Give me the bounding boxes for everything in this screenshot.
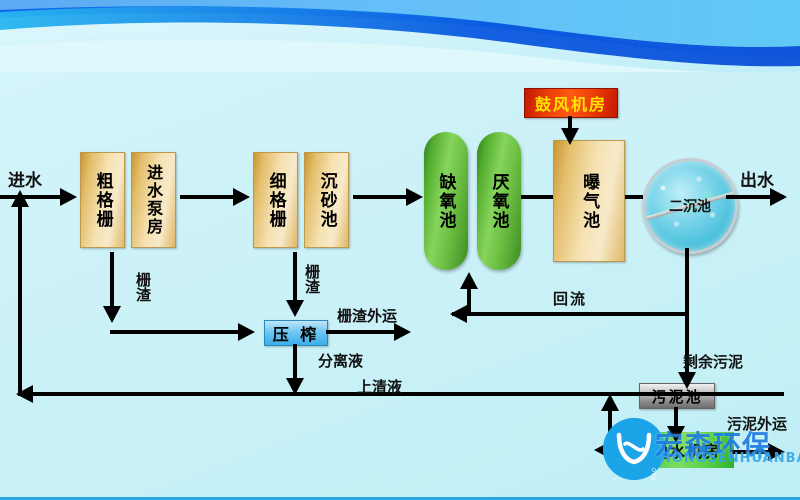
unit-influent-pump-house-label: 进水泵房 [145,164,162,236]
unit-influent-pump-house[interactable]: 进水泵房 [131,152,176,248]
unit-secondary-clarifier-label: 二沉池 [669,196,711,216]
label-effluent: 出水 [740,166,774,191]
flow-influent-line [0,195,62,199]
wave-banner [0,0,800,72]
flow-grit-to-anoxic-line [353,195,408,199]
flow-coarse-screenings-arrow [103,306,121,323]
label-excess-sludge: 剩余污泥 [683,351,743,372]
flow-excess-sludge-arrow [678,372,696,389]
flow-coarse-screenings-line [110,252,114,314]
flow-fine-screenings-arrow [286,300,304,317]
flow-grit-to-anoxic-arrow [406,188,423,206]
flow-aeration-to-clarifier-line [625,195,643,199]
process-flow-diagram: 粗格栅 进水泵房 细格栅 沉砂池 缺氧池 厌氧池 曝气池 鼓风机房 二沉池 压 … [0,0,800,500]
unit-blower-room[interactable]: 鼓风机房 [524,88,618,118]
unit-anoxic-tank-label: 缺氧池 [434,173,459,230]
label-supernatant: 上清液 [357,376,402,397]
unit-grit-chamber-label: 沉砂池 [317,172,335,229]
flow-return-sludge-arrow-up [460,272,478,289]
unit-blower-room-label: 鼓风机房 [535,91,607,115]
unit-fine-screen[interactable]: 细格栅 [253,152,298,248]
watermark-brand-en: HONGSENHUANBAO [660,451,800,466]
flow-pump-to-fine-arrow [233,188,250,206]
flow-filtrate-riser-arrow [601,394,619,411]
unit-grit-chamber[interactable]: 沉砂池 [304,152,349,248]
flow-screenings-to-press-arrow [238,323,255,341]
flow-return-sludge-arrow-left [450,305,467,323]
label-return-sludge: 回流 [553,288,587,309]
flow-anaerobic-to-aeration-line [521,195,553,199]
flow-return-riser-arrow [11,190,29,207]
flow-return-riser-line [18,196,22,394]
unit-coarse-screen[interactable]: 粗格栅 [80,152,125,248]
unit-aeration-tank-label: 曝气池 [580,173,598,230]
unit-press-label: 压 榨 [273,321,320,345]
flow-pump-to-fine-line [180,195,235,199]
label-influent: 进水 [8,166,42,191]
flow-influent-arrow [60,188,77,206]
unit-anaerobic-tank-label: 厌氧池 [487,173,512,230]
unit-aeration-tank[interactable]: 曝气池 [553,140,625,262]
unit-secondary-clarifier[interactable]: 二沉池 [642,158,738,254]
unit-anoxic-tank[interactable]: 缺氧池 [424,132,468,270]
flow-return-sludge-line [452,312,687,316]
flow-screenings-haul-line [326,330,398,334]
flow-fine-screenings-line [293,252,297,302]
unit-coarse-screen-label: 粗格栅 [93,172,111,229]
label-screenings-haul: 栅渣外运 [337,305,397,326]
label-separated-liquid: 分离液 [318,350,363,371]
flow-screenings-to-press-line [110,330,240,334]
flow-blower-arrow [561,128,579,145]
label-screenings-fine: 栅渣 [302,264,323,294]
unit-anaerobic-tank[interactable]: 厌氧池 [477,132,521,270]
unit-fine-screen-label: 细格栅 [266,172,284,229]
unit-press[interactable]: 压 榨 [264,320,328,346]
label-screenings-coarse: 栅渣 [133,272,154,302]
unit-sludge-tank[interactable]: 污泥池 [639,383,715,409]
